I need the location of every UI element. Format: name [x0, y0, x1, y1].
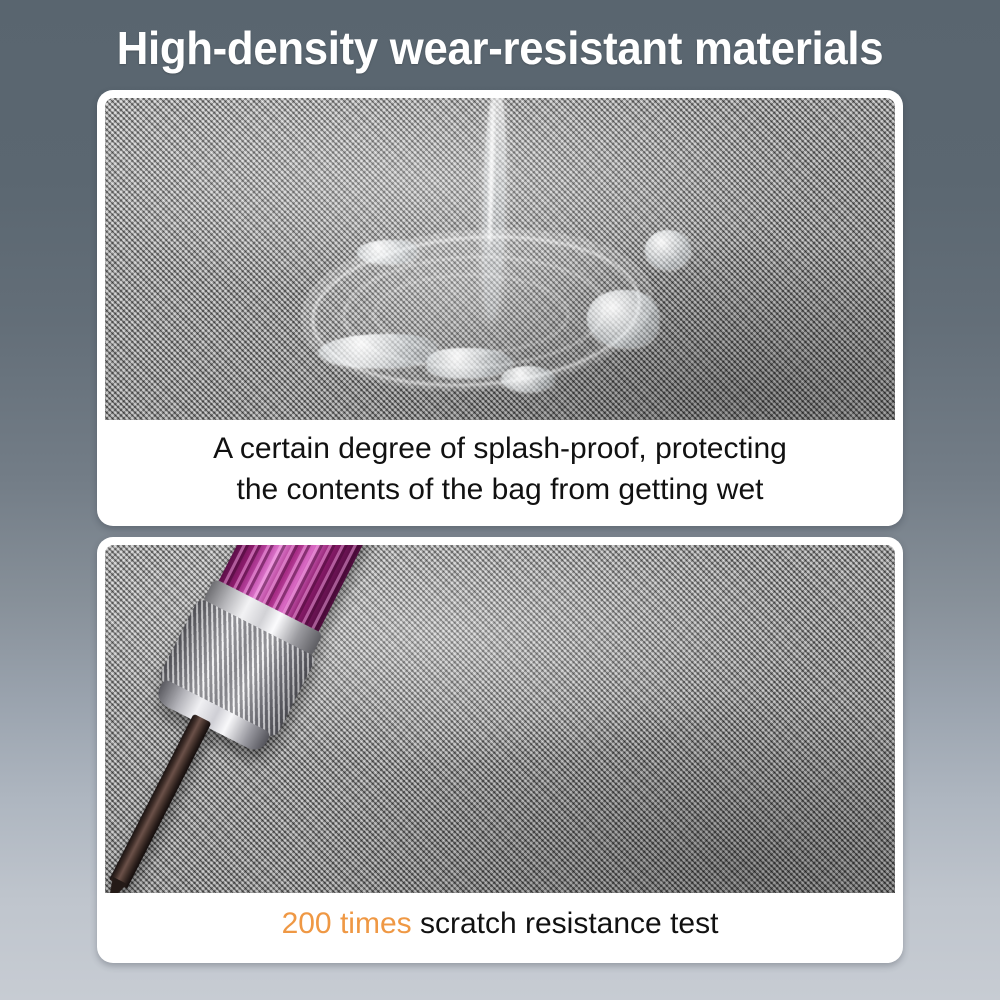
caption-scratch-resistance: 200 times scratch resistance test [105, 893, 895, 955]
caption-line-2: the contents of the bag from getting wet [237, 473, 764, 506]
feature-card-splash-proof: A certain degree of splash-proof, protec… [97, 90, 903, 526]
water-bead [645, 230, 691, 270]
water-bead [319, 334, 437, 368]
photo-water-poured-on-gray-woven-fabric [105, 98, 895, 420]
caption-splash-proof: A certain degree of splash-proof, protec… [105, 420, 895, 518]
card-inner: 200 times scratch resistance test [105, 545, 895, 955]
photo-screwdriver-scratching-gray-woven-fabric [105, 545, 895, 893]
feature-card-scratch-resistance: 200 times scratch resistance test [97, 537, 903, 963]
page-title: High-density wear-resistant materials [25, 18, 975, 78]
caption-rest: scratch resistance test [412, 907, 719, 940]
caption-highlight: 200 times [282, 907, 412, 940]
water-bead [501, 366, 555, 392]
card-inner: A certain degree of splash-proof, protec… [105, 98, 895, 518]
feature-panel-page: High-density wear-resistant materials [0, 0, 1000, 1000]
caption-line-1: A certain degree of splash-proof, protec… [213, 432, 787, 465]
water-bead [587, 290, 659, 348]
water-bead [357, 240, 417, 264]
